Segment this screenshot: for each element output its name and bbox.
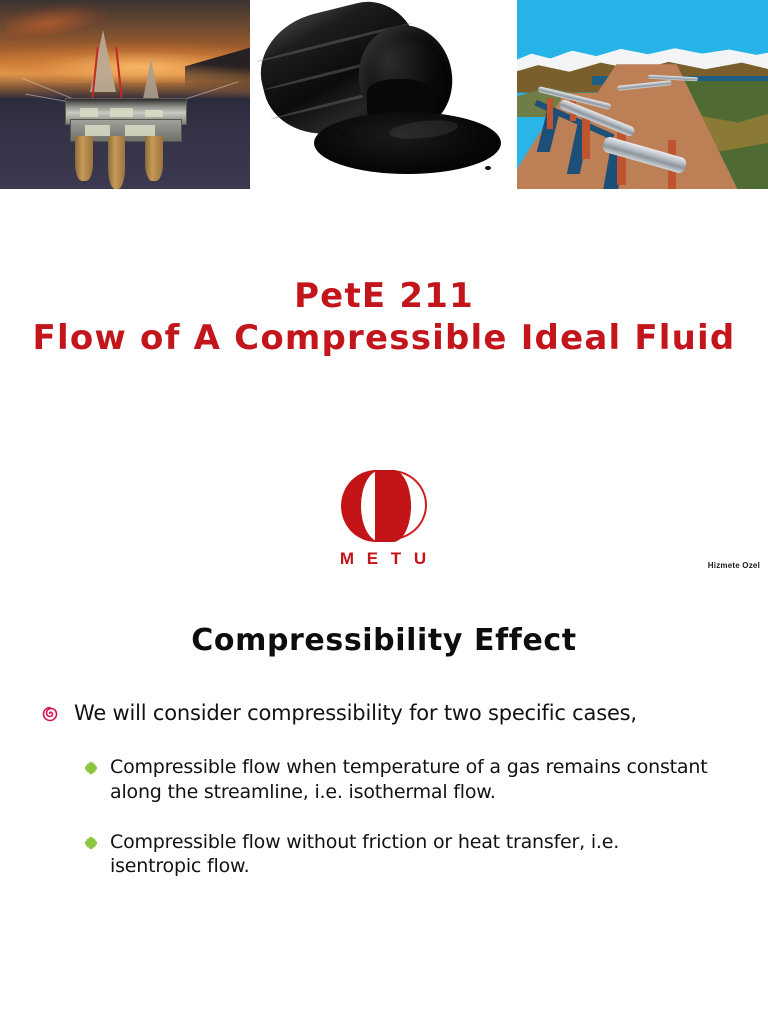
pipeline-support-post [547,98,553,128]
clover-bullet-icon [84,836,98,850]
spiral-bullet-icon [42,706,58,722]
rig-module-window [110,108,133,117]
header-image-band [0,0,768,189]
list-item-text: Compressible flow when temperature of a … [110,755,708,804]
spilled-oil-barrel-photo [250,0,517,189]
clover-bullet-icon [84,761,98,775]
metu-logo-mark [339,468,431,546]
oil-pool [314,112,501,174]
course-topic: Flow of A Compressible Ideal Fluid [0,317,768,359]
rig-module-window [145,110,163,118]
classification-marking: Hizmete Ozel [708,561,760,570]
oil-droplet [485,166,491,170]
metu-logo-inner-red [375,470,411,542]
rig-derrick-secondary [143,59,159,99]
slide-root: { "slide": { "title_line_1": "PetE 211",… [0,0,768,1024]
bullet-content: We will consider compressibility for two… [0,700,768,905]
rig-module-window [125,125,155,136]
metu-logo-wordmark: M E T U [330,549,440,569]
metu-logo: M E T U [330,468,440,573]
rig-support-leg [108,136,126,189]
rig-support-leg [75,136,93,181]
tundra-pipeline-illustration [517,0,768,189]
offshore-oil-rig-photo [0,0,250,189]
list-item-text: Compressible flow without friction or he… [110,830,708,879]
list-item-text: We will consider compressibility for two… [74,700,637,727]
list-item: We will consider compressibility for two… [0,700,768,727]
rig-module-window [85,125,110,136]
section-heading: Compressibility Effect [0,623,768,658]
rig-module-window [80,108,98,117]
pipeline-support-post [582,117,590,159]
page-title: PetE 211 Flow of A Compressible Ideal Fl… [0,275,768,359]
list-item: Compressible flow without friction or he… [0,830,768,879]
rig-support-leg [145,136,163,181]
course-code: PetE 211 [0,275,768,317]
list-item: Compressible flow when temperature of a … [0,755,768,804]
